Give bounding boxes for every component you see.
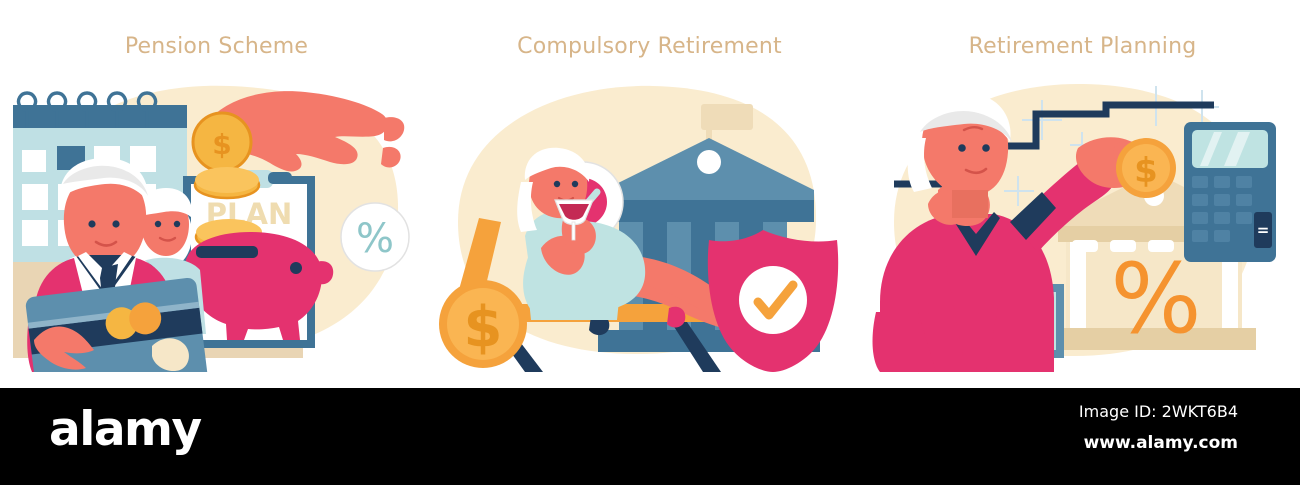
alamy-logo: alamy [49, 406, 201, 453]
dollar-coin-icon: $ [439, 280, 527, 368]
coin-dollar-label: $ [212, 128, 231, 161]
panel-pension-scheme: Pension Scheme [0, 0, 433, 388]
coin-dollar-label: $ [464, 295, 503, 360]
illustration-compulsory-retirement: $ [433, 72, 866, 372]
illustration-set: Pension Scheme [0, 0, 1300, 388]
coin-dollar-label: $ [1134, 151, 1158, 191]
calculator-equals-label: = [1257, 221, 1270, 239]
image-id-label: Image ID: 2WKT6B4 [1079, 402, 1238, 421]
panel-compulsory-retirement: Compulsory Retirement [433, 0, 866, 388]
illustration-retirement-planning: % [866, 72, 1299, 372]
calculator-icon: = [1184, 122, 1276, 262]
percent-badge: % [341, 203, 409, 271]
stock-illustration-image: Pension Scheme [0, 0, 1300, 485]
panel-title-compulsory-retirement: Compulsory Retirement [433, 34, 866, 59]
watermark-bar: alamy Image ID: 2WKT6B4 www.alamy.com [0, 388, 1300, 485]
illustration-pension-scheme: PLAN % $ [0, 72, 433, 372]
panel-retirement-planning: Retirement Planning [866, 0, 1299, 388]
panel-title-retirement-planning: Retirement Planning [866, 34, 1299, 59]
panel-title-pension-scheme: Pension Scheme [0, 34, 433, 59]
alamy-url-label: www.alamy.com [1084, 433, 1238, 453]
percent-badge-label: % [356, 216, 394, 262]
